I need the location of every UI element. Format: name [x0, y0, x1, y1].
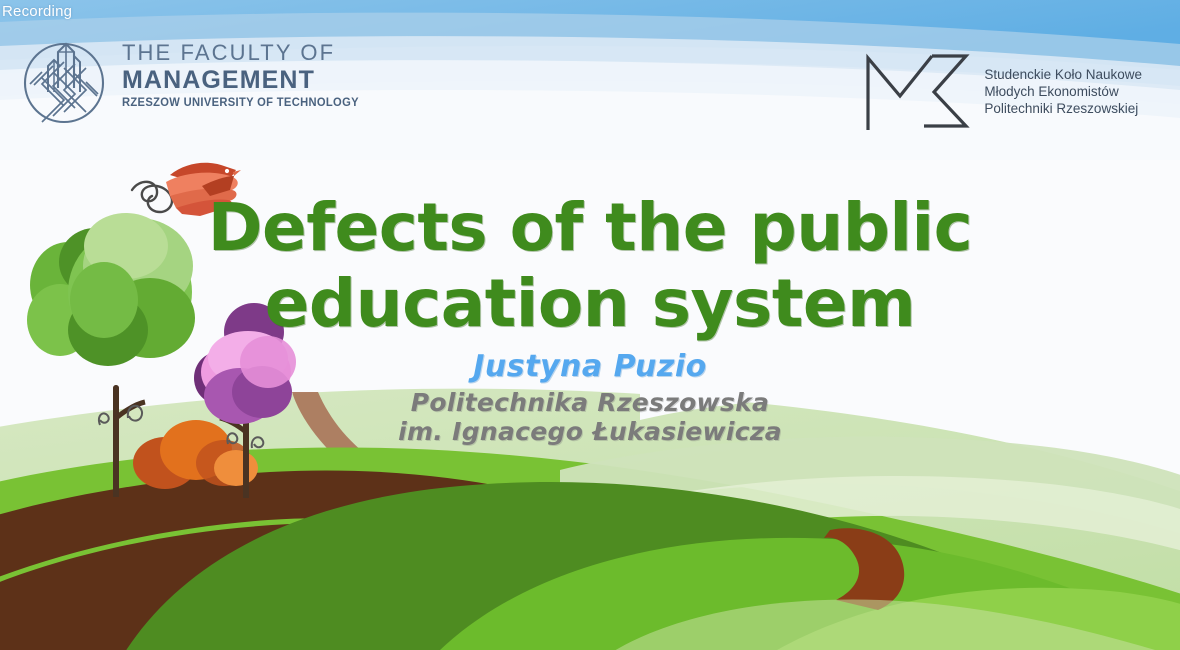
presentation-slide: Recording [0, 0, 1180, 650]
faculty-line-2: MANAGEMENT [122, 68, 366, 93]
title-line-1: Defects of the public [0, 190, 1180, 266]
title-line-2: education system [0, 266, 1180, 342]
author-name: Justyna Puzio [0, 350, 1180, 384]
affiliation-line-1: Politechnika Rzeszowska [0, 388, 1180, 417]
faculty-of-management-logo: THE FACULTY OF MANAGEMENT RZESZOW UNIVER… [18, 26, 366, 126]
recording-indicator-label: Recording [2, 4, 72, 20]
skn-line-2: Młodych Ekonomistów [984, 83, 1142, 100]
rzeszow-crest-icon [18, 26, 110, 126]
slide-title: Defects of the public education system [0, 190, 1180, 342]
m-sigma-monogram-icon [862, 52, 970, 134]
skn-line-3: Politechniki Rzeszowskiej [984, 100, 1142, 117]
faculty-line-1: THE FACULTY OF [122, 42, 366, 64]
skn-line-1: Studenckie Koło Naukowe [984, 66, 1142, 83]
faculty-line-3: RZESZOW UNIVERSITY OF TECHNOLOGY [122, 98, 359, 110]
affiliation-line-2: im. Ignacego Łukasiewicza [0, 417, 1180, 446]
skn-mlodych-ekonomistow-logo: Studenckie Koło Naukowe Młodych Ekonomis… [862, 52, 1142, 134]
slide-author-block: Justyna Puzio Politechnika Rzeszowska im… [0, 350, 1180, 446]
